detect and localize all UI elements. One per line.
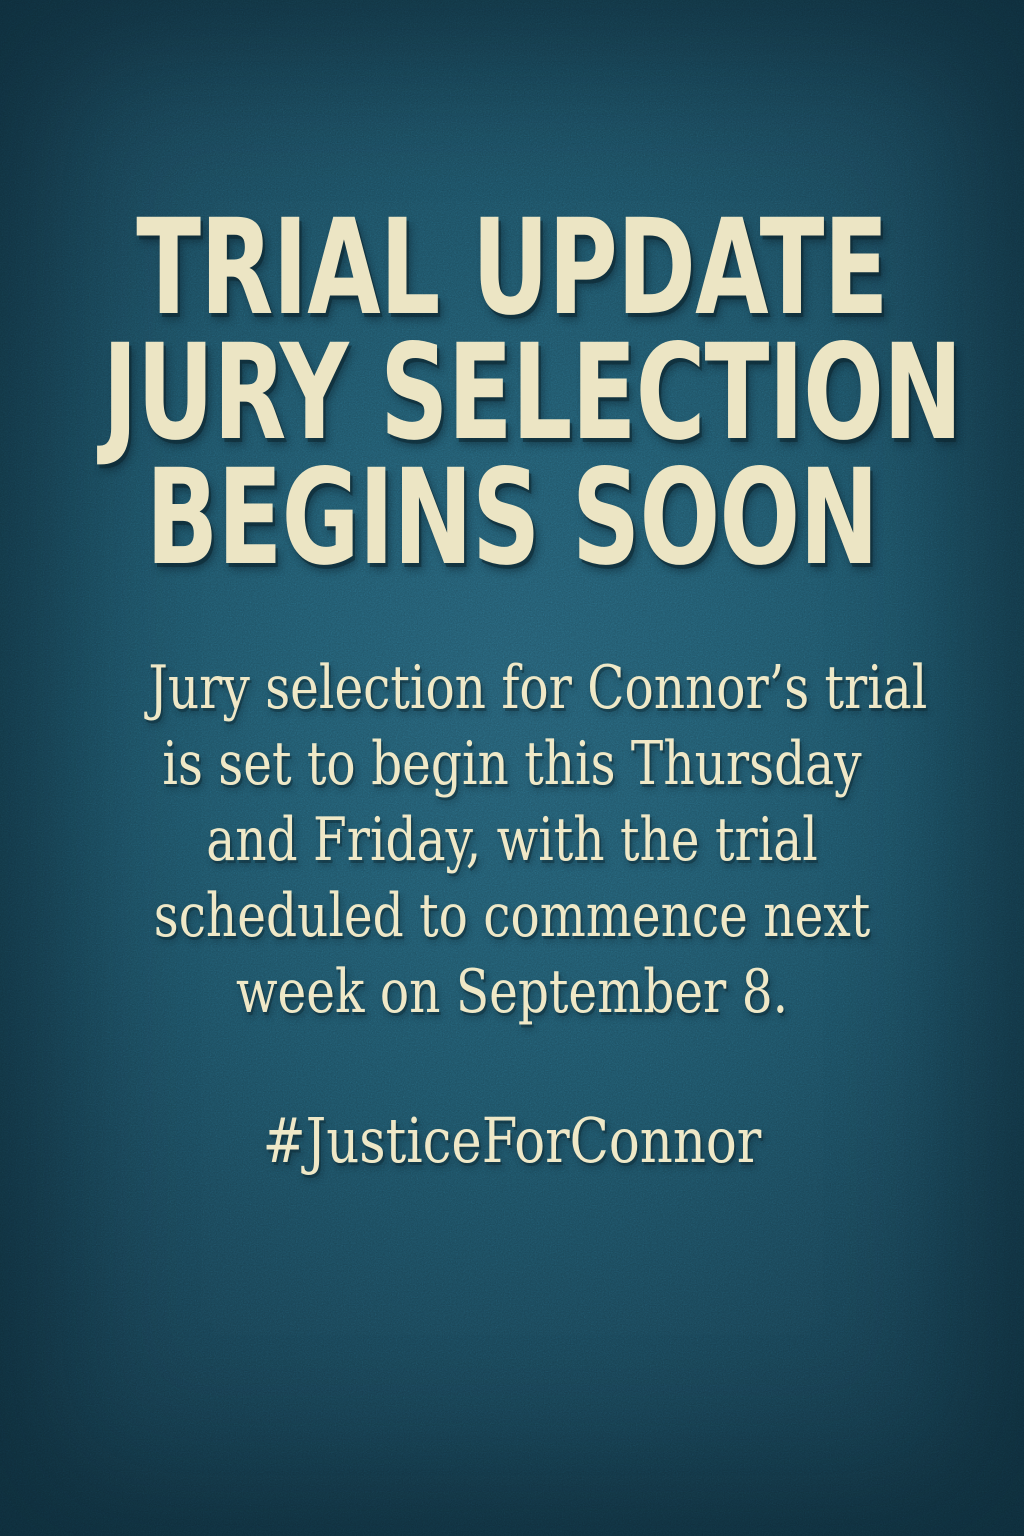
body-paragraph: Jury selection for Connor’s trial is set… [108, 650, 916, 1030]
body-line-3: and Friday, with the trial [148, 802, 875, 878]
body-line-4: scheduled to commence next [148, 878, 875, 954]
headline-line-1: TRIAL UPDATE [102, 205, 921, 331]
headline-line-3: BEGINS SOON [102, 455, 921, 581]
poster-canvas: TRIAL UPDATE JURY SELECTION BEGINS SOON … [0, 0, 1024, 1536]
poster-content: TRIAL UPDATE JURY SELECTION BEGINS SOON … [0, 0, 1024, 1536]
body-line-1: Jury selection for Connor’s trial [148, 650, 875, 726]
headline-line-2: JURY SELECTION [102, 330, 921, 456]
body-line-2: is set to begin this Thursday [148, 726, 875, 802]
body-line-5: week on September 8. [148, 954, 875, 1030]
hashtag-text: #JusticeForConnor [41, 1104, 983, 1178]
